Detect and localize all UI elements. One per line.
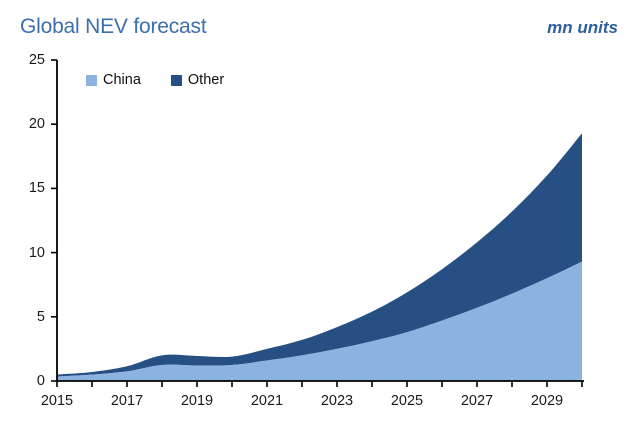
legend-item[interactable]: China — [86, 72, 141, 88]
legend-swatch-icon — [171, 75, 182, 86]
chart-container: Global NEV forecast mn units ChinaOther … — [0, 0, 640, 444]
y-axis-tick-label: 5 — [5, 309, 45, 325]
x-axis-tick-label: 2029 — [512, 393, 582, 409]
legend-swatch-icon — [86, 75, 97, 86]
x-axis-tick-label: 2021 — [232, 393, 302, 409]
plot-area — [0, 0, 640, 444]
y-axis-tick-label: 0 — [5, 373, 45, 389]
legend-item[interactable]: Other — [171, 72, 224, 88]
y-axis-tick-label: 10 — [5, 245, 45, 261]
y-axis-tick-label: 20 — [5, 116, 45, 132]
chart-legend: ChinaOther — [86, 72, 224, 88]
stacked-area-plot — [0, 0, 640, 444]
y-axis-tick-label: 25 — [5, 52, 45, 68]
x-axis-tick-label: 2015 — [22, 393, 92, 409]
x-axis-tick-label: 2025 — [372, 393, 442, 409]
x-axis-tick-label: 2017 — [92, 393, 162, 409]
legend-item-label: China — [103, 72, 141, 88]
y-axis-tick-label: 15 — [5, 180, 45, 196]
x-axis-tick-label: 2019 — [162, 393, 232, 409]
x-axis-tick-label: 2027 — [442, 393, 512, 409]
legend-item-label: Other — [188, 72, 224, 88]
x-axis-tick-label: 2023 — [302, 393, 372, 409]
